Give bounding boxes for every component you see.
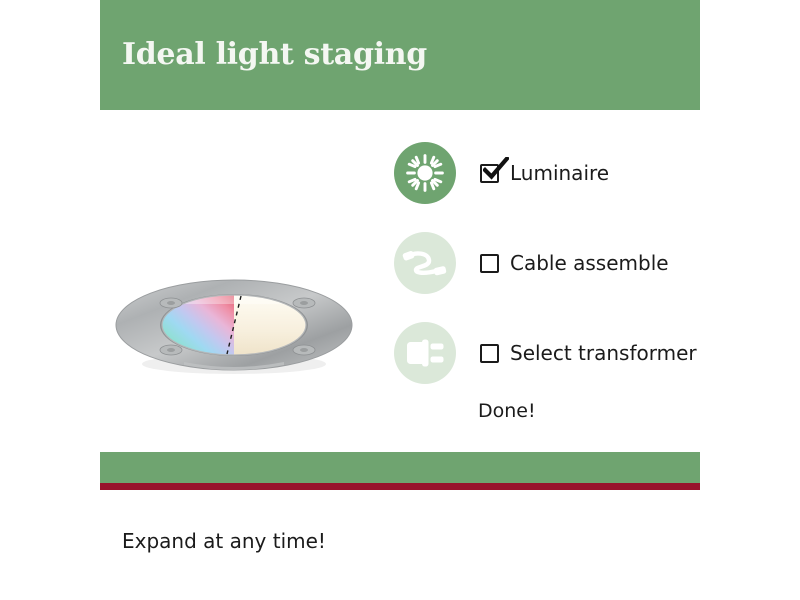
checklist-label-transformer: Select transformer [510, 342, 697, 364]
slide-canvas: Ideal light staging [0, 0, 800, 600]
checklist-row-transformer[interactable]: Select transformer [394, 308, 714, 398]
footer-green-bar [100, 452, 700, 483]
checkmark-icon [483, 157, 509, 181]
checklist-label-luminaire: Luminaire [510, 162, 609, 184]
checklist-item-cable[interactable]: Cable assemble [480, 252, 669, 274]
done-text: Done! [478, 400, 536, 422]
checkbox-cable[interactable] [480, 254, 499, 273]
checkbox-luminaire[interactable] [480, 164, 499, 183]
page-title: Ideal light staging [122, 36, 682, 74]
luminaire-icon-badge [394, 142, 456, 204]
checklist-item-transformer[interactable]: Select transformer [480, 342, 697, 364]
cable-icon [402, 244, 448, 282]
transformer-icon-badge [394, 322, 456, 384]
checklist-item-luminaire[interactable]: Luminaire [480, 162, 609, 184]
checklist-label-cable: Cable assemble [510, 252, 669, 274]
checklist-row-cable[interactable]: Cable assemble [394, 218, 714, 308]
plug-icon [404, 336, 446, 370]
footer-caption: Expand at any time! [122, 529, 326, 553]
checklist-row-luminaire[interactable]: Luminaire [394, 128, 714, 218]
sun-icon [405, 153, 445, 193]
product-image-recessed-luminaire [108, 268, 358, 383]
footer-red-rule [100, 483, 700, 490]
checklist: Luminaire Cable assemble [394, 128, 714, 398]
checkbox-transformer[interactable] [480, 344, 499, 363]
cable-icon-badge [394, 232, 456, 294]
